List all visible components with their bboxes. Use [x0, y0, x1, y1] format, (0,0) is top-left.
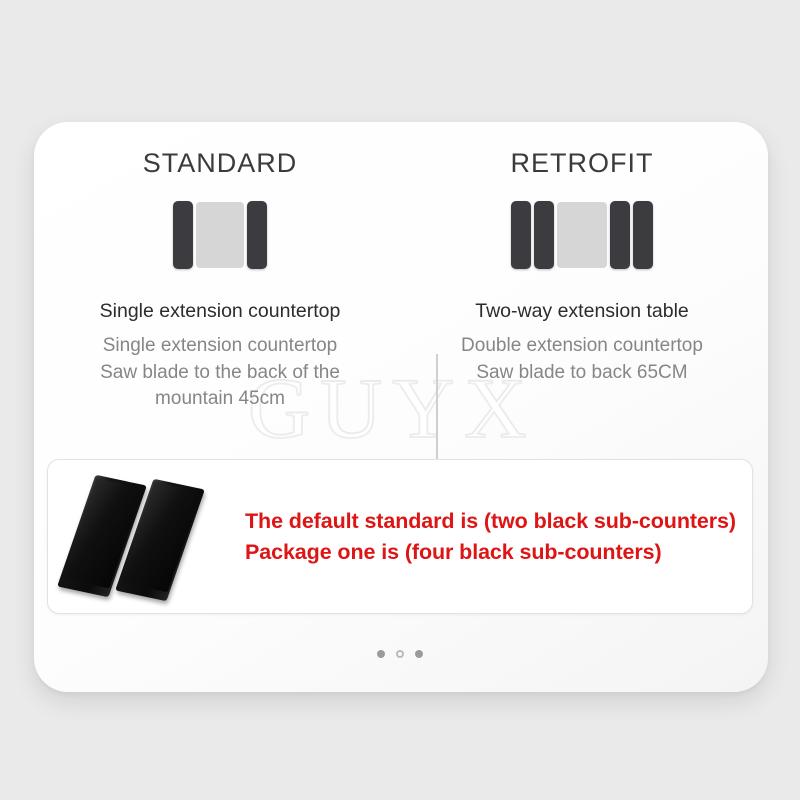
retrofit-title: RETROFIT: [402, 150, 762, 177]
standard-diagram: [40, 199, 400, 271]
diagram-bar-light: [557, 202, 607, 268]
note-line-2: Package one is (four black sub-counters): [245, 537, 736, 568]
comparison-column-standard: STANDARD Single extension countertop Sin…: [40, 122, 400, 412]
note-line-1: The default standard is (two black sub-c…: [245, 506, 736, 537]
standard-description: Single extension countertop Saw blade to…: [40, 333, 400, 412]
retrofit-description: Double extension countertop Saw blade to…: [402, 333, 762, 385]
diagram-bar-dark: [610, 201, 630, 269]
pagination-dot-2[interactable]: [396, 650, 404, 658]
diagram-bar-dark: [173, 201, 193, 269]
diagram-bar-dark: [633, 201, 653, 269]
diagram-bar-dark: [247, 201, 267, 269]
screenshot-root: GUYX STANDARD Single extension counterto…: [0, 0, 800, 800]
retrofit-description-line: Double extension countertop: [402, 333, 762, 359]
column-divider: [436, 354, 438, 474]
note-text: The default standard is (two black sub-c…: [245, 506, 736, 567]
standard-subtitle: Single extension countertop: [40, 301, 400, 322]
retrofit-subtitle: Two-way extension table: [402, 301, 762, 322]
standard-description-line: Saw blade to the back of the: [40, 360, 400, 386]
pagination-dot-3[interactable]: [415, 650, 423, 658]
diagram-bar-dark: [534, 201, 554, 269]
note-panel: The default standard is (two black sub-c…: [47, 459, 753, 614]
comparison-section: STANDARD Single extension countertop Sin…: [34, 122, 768, 442]
comparison-column-retrofit: RETROFIT Two-way extension table Double …: [402, 122, 762, 386]
pagination-dot-1[interactable]: [377, 650, 385, 658]
diagram-bar-light: [196, 202, 244, 268]
retrofit-diagram: [402, 199, 762, 271]
retrofit-description-line: Saw blade to back 65CM: [402, 360, 762, 386]
standard-description-line: mountain 45cm: [40, 386, 400, 412]
product-photo: [56, 467, 231, 607]
standard-title: STANDARD: [40, 150, 400, 177]
diagram-bar-dark: [511, 201, 531, 269]
pagination-dots[interactable]: [0, 650, 800, 658]
standard-description-line: Single extension countertop: [40, 333, 400, 359]
